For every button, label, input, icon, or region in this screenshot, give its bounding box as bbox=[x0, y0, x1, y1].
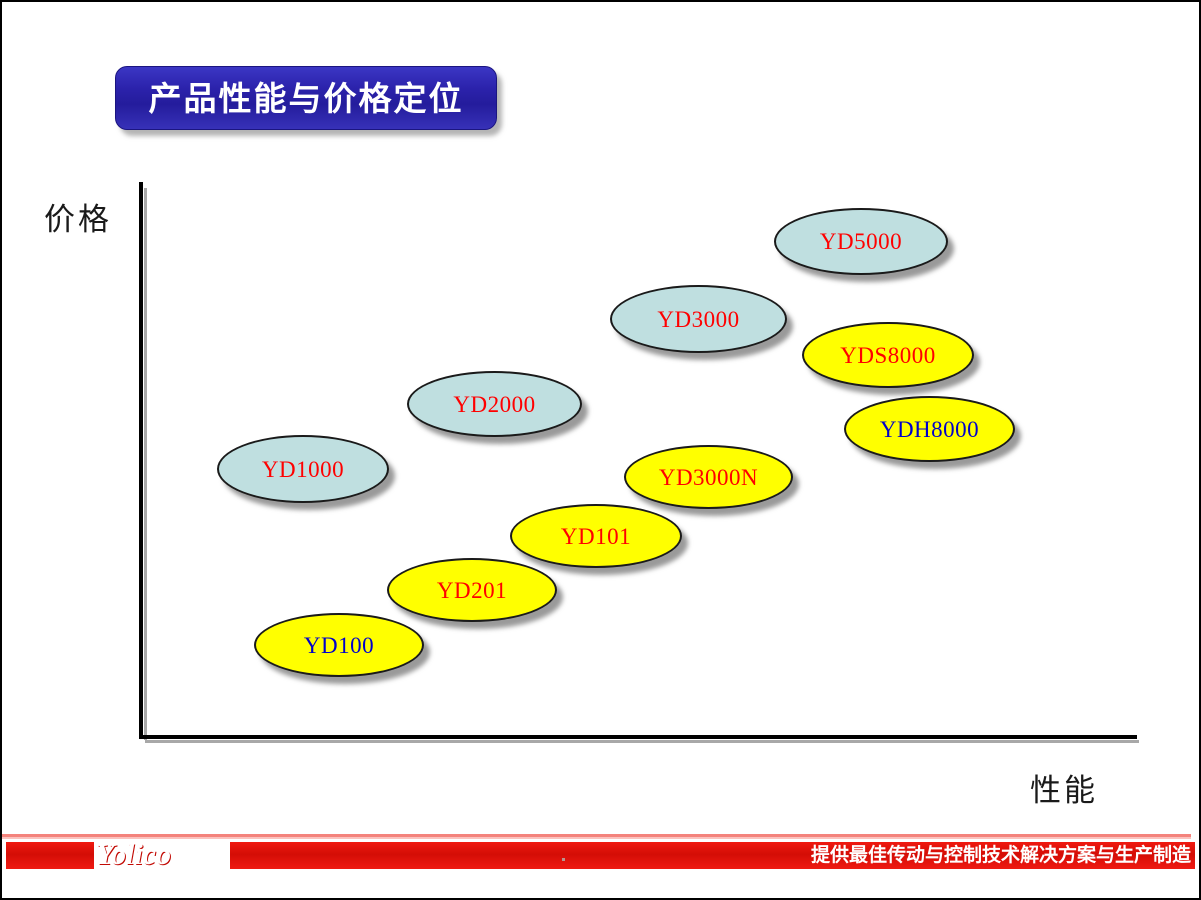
bubble-label: YD1000 bbox=[262, 458, 344, 481]
bubble-yd5000[interactable]: YD5000 bbox=[774, 208, 948, 275]
bubble-label: YD100 bbox=[304, 634, 374, 657]
x-axis-shadow bbox=[145, 740, 1139, 743]
footer-banner: Yolico 提供最佳传动与控制技术解决方案与生产制造 bbox=[2, 834, 1199, 870]
x-axis-line bbox=[139, 735, 1137, 739]
bubble-yd2000[interactable]: YD2000 bbox=[407, 371, 582, 437]
slide-title-plaque: 产品性能与价格定位 bbox=[115, 66, 497, 130]
footer-rule-secondary bbox=[2, 837, 1191, 839]
page-title: 产品性能与价格定位 bbox=[149, 82, 464, 115]
bubble-label: YD3000 bbox=[657, 308, 739, 331]
bubble-yds8000[interactable]: YDS8000 bbox=[802, 322, 974, 388]
bubble-label: YDH8000 bbox=[880, 418, 979, 441]
bubble-yd3000[interactable]: YD3000 bbox=[610, 285, 787, 353]
bubble-label: YD101 bbox=[561, 525, 631, 548]
bubble-yd3000n[interactable]: YD3000N bbox=[624, 445, 793, 509]
bubble-label: YD201 bbox=[437, 579, 507, 602]
y-axis-shadow bbox=[144, 188, 147, 740]
bubble-ydh8000[interactable]: YDH8000 bbox=[844, 396, 1015, 462]
bubble-yd101[interactable]: YD101 bbox=[510, 504, 682, 568]
bubble-label: YD5000 bbox=[820, 230, 902, 253]
bubble-label: YD3000N bbox=[659, 466, 758, 489]
footer-separator-dot bbox=[562, 858, 565, 861]
company-logo: Yolico bbox=[96, 840, 171, 870]
y-axis-label: 价格 bbox=[44, 194, 112, 239]
x-axis-label: 性能 bbox=[1030, 765, 1098, 810]
bubble-yd1000[interactable]: YD1000 bbox=[217, 435, 389, 503]
bubble-label: YDS8000 bbox=[840, 344, 936, 367]
footer-tagline: 提供最佳传动与控制技术解决方案与生产制造 bbox=[811, 844, 1191, 866]
bubble-yd100[interactable]: YD100 bbox=[254, 613, 424, 677]
y-axis-line bbox=[139, 182, 143, 738]
bubble-label: YD2000 bbox=[453, 393, 535, 416]
slide-canvas: 产品性能与价格定位 价格 性能 YD1000YD2000YD3000YD5000… bbox=[0, 0, 1201, 900]
bubble-yd201[interactable]: YD201 bbox=[387, 558, 557, 622]
footer-band-left bbox=[6, 842, 94, 869]
